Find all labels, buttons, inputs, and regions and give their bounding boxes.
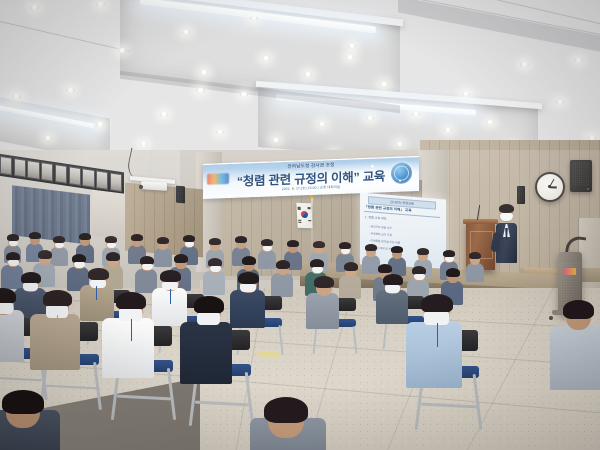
- portrait-frame: [69, 166, 81, 186]
- portrait-frame: [0, 156, 12, 176]
- portrait-frame: [110, 172, 122, 192]
- portrait-frame: [14, 158, 26, 178]
- taeguk-symbol-icon: [301, 211, 308, 218]
- projector-lens-icon: [139, 185, 143, 189]
- wall-speaker-left: [176, 186, 185, 204]
- speaker-power-led-icon: [587, 188, 590, 191]
- portrait-frame: [55, 164, 67, 184]
- portrait-frame: [27, 160, 39, 180]
- portrait-frame: [96, 170, 108, 190]
- portrait-frame: [41, 162, 53, 182]
- projector-mount-arm: [150, 150, 151, 180]
- auditorium-photograph: 전라남도청 감사관 초청 “청렴 관련 규정의 이해” 교육 2022. 8. …: [0, 0, 600, 450]
- face-mask-icon: [500, 213, 513, 221]
- speaker-hair: [499, 204, 514, 213]
- taegeukgi-korean-flag: [296, 203, 312, 229]
- wall-clock: [535, 172, 565, 202]
- purifier-label: [563, 268, 576, 275]
- ceiling-projector: [141, 181, 167, 191]
- wall-speaker-small: [517, 186, 525, 204]
- wall-speaker-right: [570, 160, 592, 192]
- portrait-frame: [82, 168, 94, 188]
- lectern-top: [463, 219, 498, 224]
- banner-close-quote: ”: [353, 170, 359, 184]
